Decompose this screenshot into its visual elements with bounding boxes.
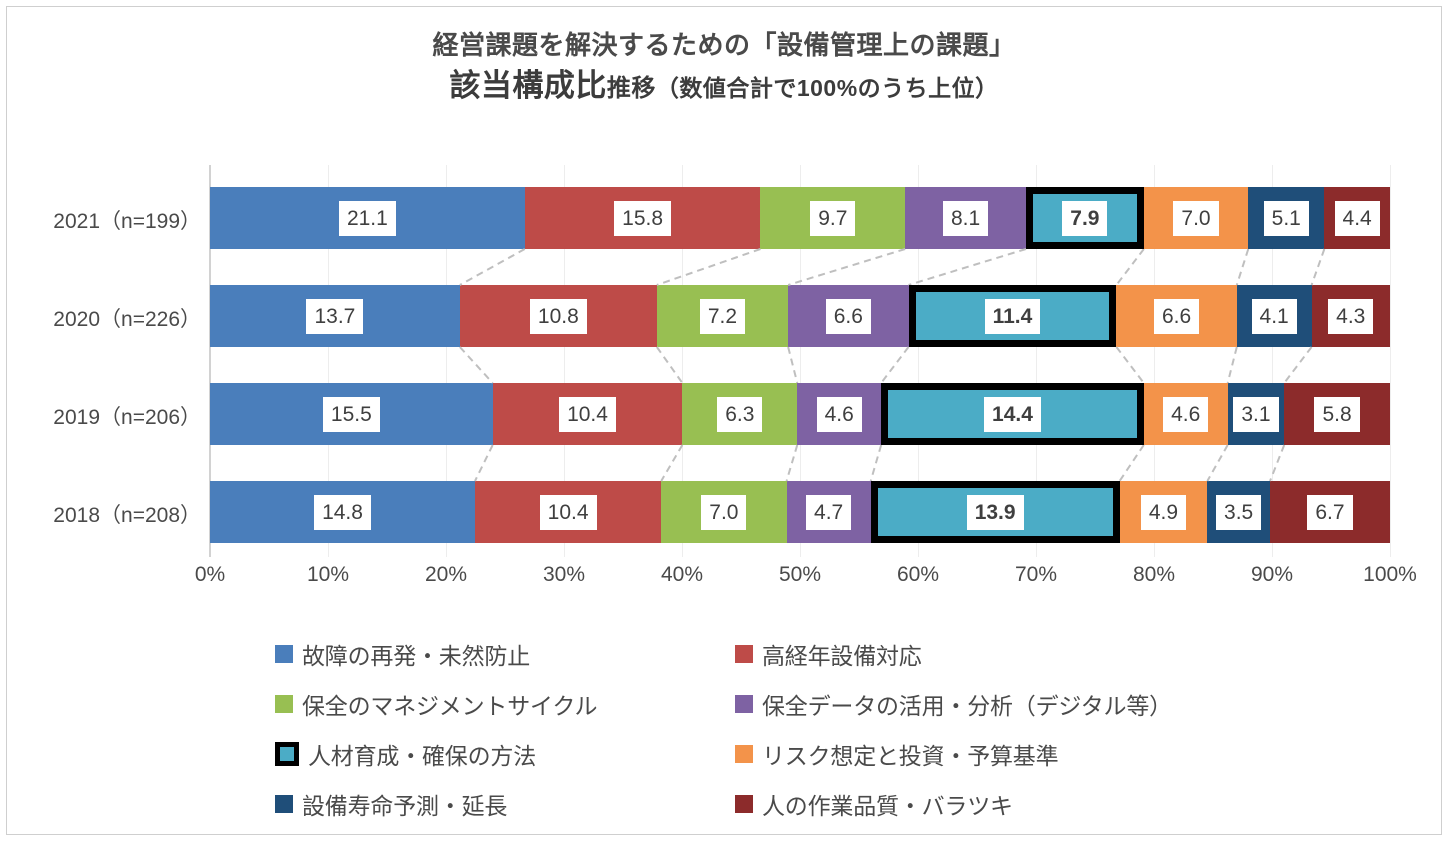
chart-legend: 故障の再発・未然防止高経年設備対応保全のマネジメントサイクル保全データの活用・分… <box>275 629 1275 829</box>
bar-segment[interactable]: 6.3 <box>682 383 797 445</box>
bar-value-label: 4.4 <box>1335 201 1380 236</box>
bar-value-label: 10.4 <box>540 495 597 530</box>
legend-item[interactable]: 設備寿命予測・延長 <box>275 787 735 821</box>
bar-segment[interactable]: 7.2 <box>657 285 788 347</box>
bar-value-label: 14.8 <box>314 495 371 530</box>
bar-value-label: 13.9 <box>967 495 1024 530</box>
bar-segment[interactable]: 4.9 <box>1120 481 1208 543</box>
bar-value-label: 7.0 <box>701 495 746 530</box>
bar-segment[interactable]: 4.3 <box>1312 285 1390 347</box>
bar-segment[interactable]: 15.8 <box>525 187 761 249</box>
bar-segment[interactable]: 7.0 <box>1144 187 1248 249</box>
chart-title: 経営課題を解決するための「設備管理上の課題」 該当構成比推移（数値合計で100%… <box>7 29 1441 106</box>
bar-segment[interactable]: 6.6 <box>788 285 908 347</box>
x-tick-label: 40% <box>661 563 703 587</box>
x-tick-label: 60% <box>897 563 939 587</box>
legend-label: 設備寿命予測・延長 <box>302 787 507 821</box>
bar-value-label: 21.1 <box>339 201 396 236</box>
bar-value-label: 4.1 <box>1252 299 1297 334</box>
bar-segment[interactable]: 4.6 <box>1144 383 1228 445</box>
legend-item[interactable]: 保全のマネジメントサイクル <box>275 687 735 721</box>
bar-value-label: 5.8 <box>1314 397 1359 432</box>
chart-title-line1: 経営課題を解決するための「設備管理上の課題」 <box>7 29 1441 62</box>
bar-segment[interactable]: 3.1 <box>1228 383 1285 445</box>
bar-segment[interactable]: 5.8 <box>1284 383 1390 445</box>
bar-segment[interactable]: 4.4 <box>1324 187 1390 249</box>
bar-segment[interactable]: 14.8 <box>210 481 475 543</box>
legend-label: 人の作業品質・バラツキ <box>762 787 1013 821</box>
bar-value-label: 7.9 <box>1062 201 1107 236</box>
x-tick-label: 30% <box>543 563 585 587</box>
bar-value-label: 7.0 <box>1173 201 1218 236</box>
bar-segment[interactable]: 13.7 <box>210 285 460 347</box>
bar-segment[interactable]: 10.4 <box>475 481 661 543</box>
bar-segment[interactable]: 7.9 <box>1026 187 1144 249</box>
bar-segment[interactable]: 5.1 <box>1248 187 1324 249</box>
x-tick-label: 90% <box>1251 563 1293 587</box>
bar-value-label: 9.7 <box>810 201 855 236</box>
bar-row: 14.810.47.04.713.94.93.56.7 <box>210 481 1390 543</box>
chart-title-paren: （数値合計で100%のうち上位） <box>656 75 999 101</box>
legend-swatch-icon <box>735 745 753 763</box>
gridline <box>1390 165 1391 557</box>
bar-value-label: 10.8 <box>530 299 587 334</box>
bar-segment[interactable]: 3.5 <box>1207 481 1270 543</box>
legend-item[interactable]: 高経年設備対応 <box>735 637 1275 671</box>
category-label-3: 2018（n=208） <box>25 499 201 529</box>
bar-row: 15.510.46.34.614.44.63.15.8 <box>210 383 1390 445</box>
legend-label: 保全のマネジメントサイクル <box>302 687 597 721</box>
bar-value-label: 7.2 <box>700 299 745 334</box>
bar-segment[interactable]: 15.5 <box>210 383 493 445</box>
x-tick-label: 70% <box>1015 563 1057 587</box>
legend-swatch-icon <box>275 695 293 713</box>
bar-segment[interactable]: 10.8 <box>460 285 657 347</box>
bar-value-label: 4.3 <box>1328 299 1373 334</box>
legend-swatch-icon <box>275 795 293 813</box>
bar-segment[interactable]: 9.7 <box>760 187 905 249</box>
bar-value-label: 6.7 <box>1307 495 1352 530</box>
legend-label: 故障の再発・未然防止 <box>302 637 530 671</box>
bar-segment[interactable]: 13.9 <box>871 481 1120 543</box>
legend-swatch-icon <box>735 795 753 813</box>
legend-item[interactable]: 故障の再発・未然防止 <box>275 637 735 671</box>
legend-swatch-icon <box>735 695 753 713</box>
bar-value-label: 15.8 <box>614 201 671 236</box>
bar-value-label: 4.6 <box>1163 397 1208 432</box>
bar-segment[interactable]: 11.4 <box>909 285 1117 347</box>
legend-item[interactable]: リスク想定と投資・予算基準 <box>735 737 1275 771</box>
legend-swatch-icon <box>275 645 293 663</box>
bar-value-label: 8.1 <box>943 201 988 236</box>
bar-segment[interactable]: 21.1 <box>210 187 525 249</box>
legend-item[interactable]: 保全データの活用・分析（デジタル等） <box>735 687 1275 721</box>
x-tick-label: 10% <box>307 563 349 587</box>
bar-segment[interactable]: 6.7 <box>1270 481 1390 543</box>
legend-item[interactable]: 人の作業品質・バラツキ <box>735 787 1275 821</box>
x-tick-label: 100% <box>1363 563 1417 587</box>
category-label-1: 2020（n=226） <box>25 303 201 333</box>
legend-swatch-icon <box>275 742 299 766</box>
bar-segment[interactable]: 8.1 <box>905 187 1026 249</box>
x-tick-label: 50% <box>779 563 821 587</box>
bar-value-label: 14.4 <box>984 397 1041 432</box>
bar-segment[interactable]: 6.6 <box>1116 285 1236 347</box>
bar-segment[interactable]: 10.4 <box>493 383 683 445</box>
bar-segment[interactable]: 4.6 <box>797 383 881 445</box>
bar-value-label: 6.3 <box>717 397 762 432</box>
chart-title-line2: 該当構成比推移（数値合計で100%のうち上位） <box>7 66 1441 106</box>
bar-value-label: 5.1 <box>1264 201 1309 236</box>
value-axis-labels: 0%10%20%30%40%50%60%70%80%90%100% <box>210 563 1390 593</box>
bar-value-label: 11.4 <box>985 299 1041 334</box>
bar-segment[interactable]: 4.7 <box>787 481 871 543</box>
bar-segment[interactable]: 14.4 <box>881 383 1144 445</box>
bar-value-label: 4.6 <box>817 397 862 432</box>
category-label-0: 2021（n=199） <box>25 205 201 235</box>
bar-segment[interactable]: 4.1 <box>1237 285 1312 347</box>
x-tick-label: 20% <box>425 563 467 587</box>
legend-swatch-icon <box>735 645 753 663</box>
bar-value-label: 6.6 <box>1154 299 1199 334</box>
category-label-2: 2019（n=206） <box>25 401 201 431</box>
bar-row: 21.115.89.78.17.97.05.14.4 <box>210 187 1390 249</box>
bar-value-label: 3.1 <box>1233 397 1278 432</box>
bar-value-label: 6.6 <box>826 299 871 334</box>
chart-title-main: 該当構成比 <box>449 68 607 103</box>
x-tick-label: 0% <box>195 563 225 587</box>
bar-value-label: 4.9 <box>1141 495 1186 530</box>
chart-frame: 経営課題を解決するための「設備管理上の課題」 該当構成比推移（数値合計で100%… <box>6 6 1442 835</box>
bar-value-label: 13.7 <box>306 299 363 334</box>
bar-value-label: 10.4 <box>559 397 616 432</box>
x-tick-label: 80% <box>1133 563 1175 587</box>
chart-title-sub: 推移 <box>607 75 656 102</box>
bar-value-label: 4.7 <box>806 495 851 530</box>
legend-label: 高経年設備対応 <box>762 637 922 671</box>
legend-label: 人材育成・確保の方法 <box>308 737 536 771</box>
bar-value-label: 15.5 <box>323 397 380 432</box>
bar-segment[interactable]: 7.0 <box>661 481 786 543</box>
plot-area: 21.115.89.78.17.97.05.14.413.710.87.26.6… <box>210 165 1390 557</box>
legend-label: リスク想定と投資・予算基準 <box>762 737 1058 771</box>
bar-row: 13.710.87.26.611.46.64.14.3 <box>210 285 1390 347</box>
bar-value-label: 3.5 <box>1216 495 1261 530</box>
legend-item[interactable]: 人材育成・確保の方法 <box>275 737 735 771</box>
legend-label: 保全データの活用・分析（デジタル等） <box>762 687 1172 721</box>
